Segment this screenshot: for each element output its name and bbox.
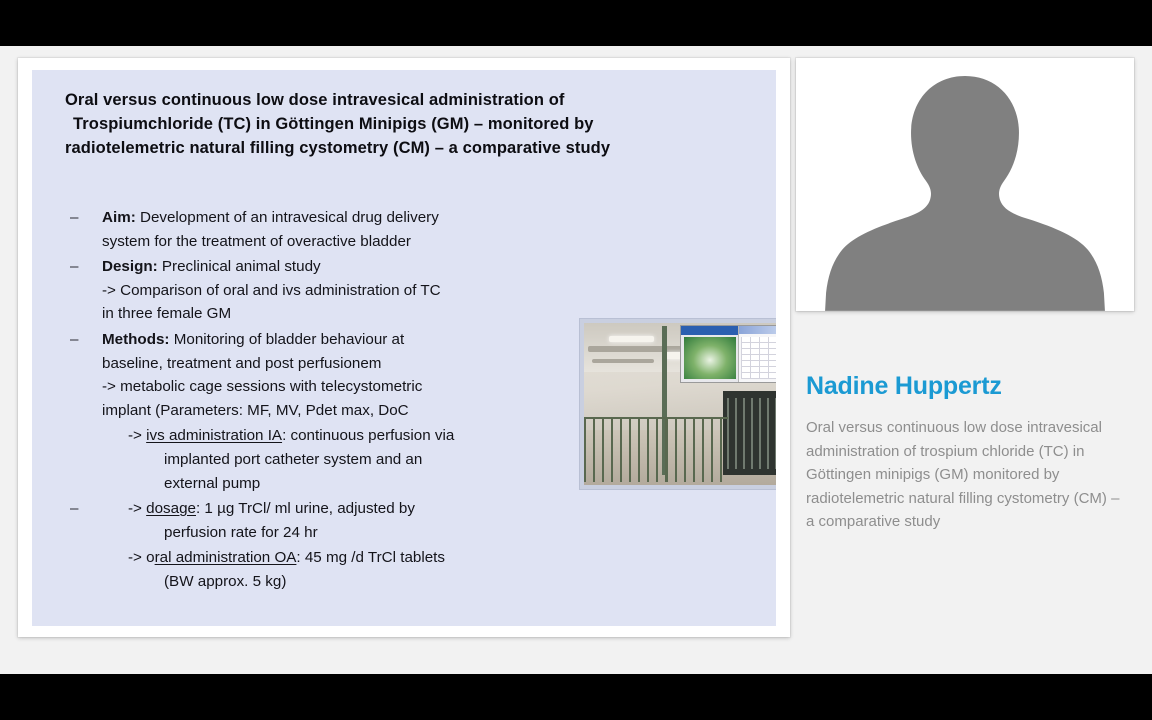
overlay-titlebar <box>681 326 738 335</box>
photo-dark-enclosure <box>723 391 776 475</box>
sub-bullet-dosage: – -> dosage: 1 µg TrCl/ ml urine, adjust… <box>40 497 560 544</box>
sub-dosage-rest: : 1 µg TrCl/ ml urine, adjusted by <box>196 500 415 517</box>
slide-title-line-2: Trospiumchloride (TC) in Göttingen Minip… <box>65 112 745 136</box>
video-player-stage: Oral versus continuous low dose intraves… <box>0 0 1152 720</box>
overlay-video-pane <box>681 326 739 382</box>
slide-page: Oral versus continuous low dose intraves… <box>0 46 1152 674</box>
sub-ivs-arrow: -> <box>128 427 146 444</box>
person-silhouette-icon <box>796 68 1134 311</box>
sub-ivs-rest: : continuous perfusion via <box>282 427 454 444</box>
sub-oral-prefix: o <box>146 549 154 566</box>
slide-card: Oral versus continuous low dose intraves… <box>18 58 790 637</box>
bullet-methods-line-4: implant (Parameters: MF, MV, Pdet max, D… <box>102 399 560 423</box>
sub-ivs-term: ivs administration IA <box>146 427 282 444</box>
slide-title-line-1: Oral versus continuous low dose intraves… <box>65 88 745 112</box>
bullet-methods-label: Methods: <box>102 331 170 348</box>
photo-pipe <box>588 346 682 352</box>
bullet-aim-line-1: Development of an intravesical drug deli… <box>136 209 439 226</box>
bullet-aim: – Aim: Development of an intravesical dr… <box>40 206 560 253</box>
bullet-dash-icon: – <box>70 255 78 279</box>
bullet-methods: – Methods: Monitoring of bladder behavio… <box>40 328 560 422</box>
bullet-design-label: Design: <box>102 258 158 275</box>
telemetry-monitor-overlay <box>680 325 776 383</box>
bullet-design-line-2: -> Comparison of oral and ivs administra… <box>102 279 560 303</box>
facility-photo-inner <box>584 323 776 485</box>
sub-ivs-line-3: external pump <box>102 472 560 496</box>
speaker-name: Nadine Huppertz <box>806 372 1146 401</box>
sub-oral-line-2: (BW approx. 5 kg) <box>102 570 560 594</box>
letterbox-bottom <box>0 674 1152 720</box>
overlay-toolbar <box>739 326 776 334</box>
photo-lamp <box>609 336 654 342</box>
overlay-data-pane <box>739 326 776 382</box>
bullet-dash-icon: – <box>70 206 78 230</box>
bullet-aim-label: Aim: <box>102 209 136 226</box>
photo-pipe <box>592 359 654 364</box>
sub-ivs-line-2: implanted port catheter system and an <box>102 448 560 472</box>
bullet-methods-line-2: baseline, treatment and post perfusionem <box>102 352 560 376</box>
speaker-description: Oral versus continuous low dose intraves… <box>806 416 1128 534</box>
overlay-video-feed <box>684 337 736 379</box>
bullet-design-line-3: in three female GM <box>102 302 560 326</box>
photo-railing <box>584 417 666 482</box>
sub-dosage-line-2: perfusion rate for 24 hr <box>102 521 560 545</box>
sub-oral-term: ral administration OA <box>155 549 297 566</box>
bullet-aim-line-2: system for the treatment of overactive b… <box>102 230 560 254</box>
letterbox-top <box>0 0 1152 46</box>
slide-surface: Oral versus continuous low dose intraves… <box>32 70 776 626</box>
sub-dosage-term: dosage <box>146 500 196 517</box>
sub-bullet-ivs: -> ivs administration IA: continuous per… <box>40 424 560 495</box>
slide-body: – Aim: Development of an intravesical dr… <box>40 206 560 594</box>
photo-railing <box>666 417 728 482</box>
bullet-methods-line-1: Monitoring of bladder behaviour at <box>170 331 405 348</box>
slide-title-line-3: radiotelemetric natural filling cystomet… <box>65 136 745 160</box>
overlay-data-grid <box>741 337 776 379</box>
sub-dosage-arrow: -> <box>128 500 146 517</box>
bullet-dash-icon: – <box>70 497 78 521</box>
sub-oral-arrow: -> <box>128 549 146 566</box>
speaker-avatar-card <box>796 58 1134 311</box>
sub-bullet-oral: -> oral administration OA: 45 mg /d TrCl… <box>40 546 560 593</box>
bullet-design: – Design: Preclinical animal study -> Co… <box>40 255 560 326</box>
bullet-design-line-1: Preclinical animal study <box>158 258 321 275</box>
photo-enclosure-bars <box>727 398 776 469</box>
slide-title: Oral versus continuous low dose intraves… <box>65 88 745 160</box>
bullet-dash-icon: – <box>70 328 78 352</box>
sub-oral-rest: : 45 mg /d TrCl tablets <box>296 549 445 566</box>
bullet-methods-line-3: -> metabolic cage sessions with telecyst… <box>102 375 560 399</box>
facility-photo <box>580 319 776 489</box>
